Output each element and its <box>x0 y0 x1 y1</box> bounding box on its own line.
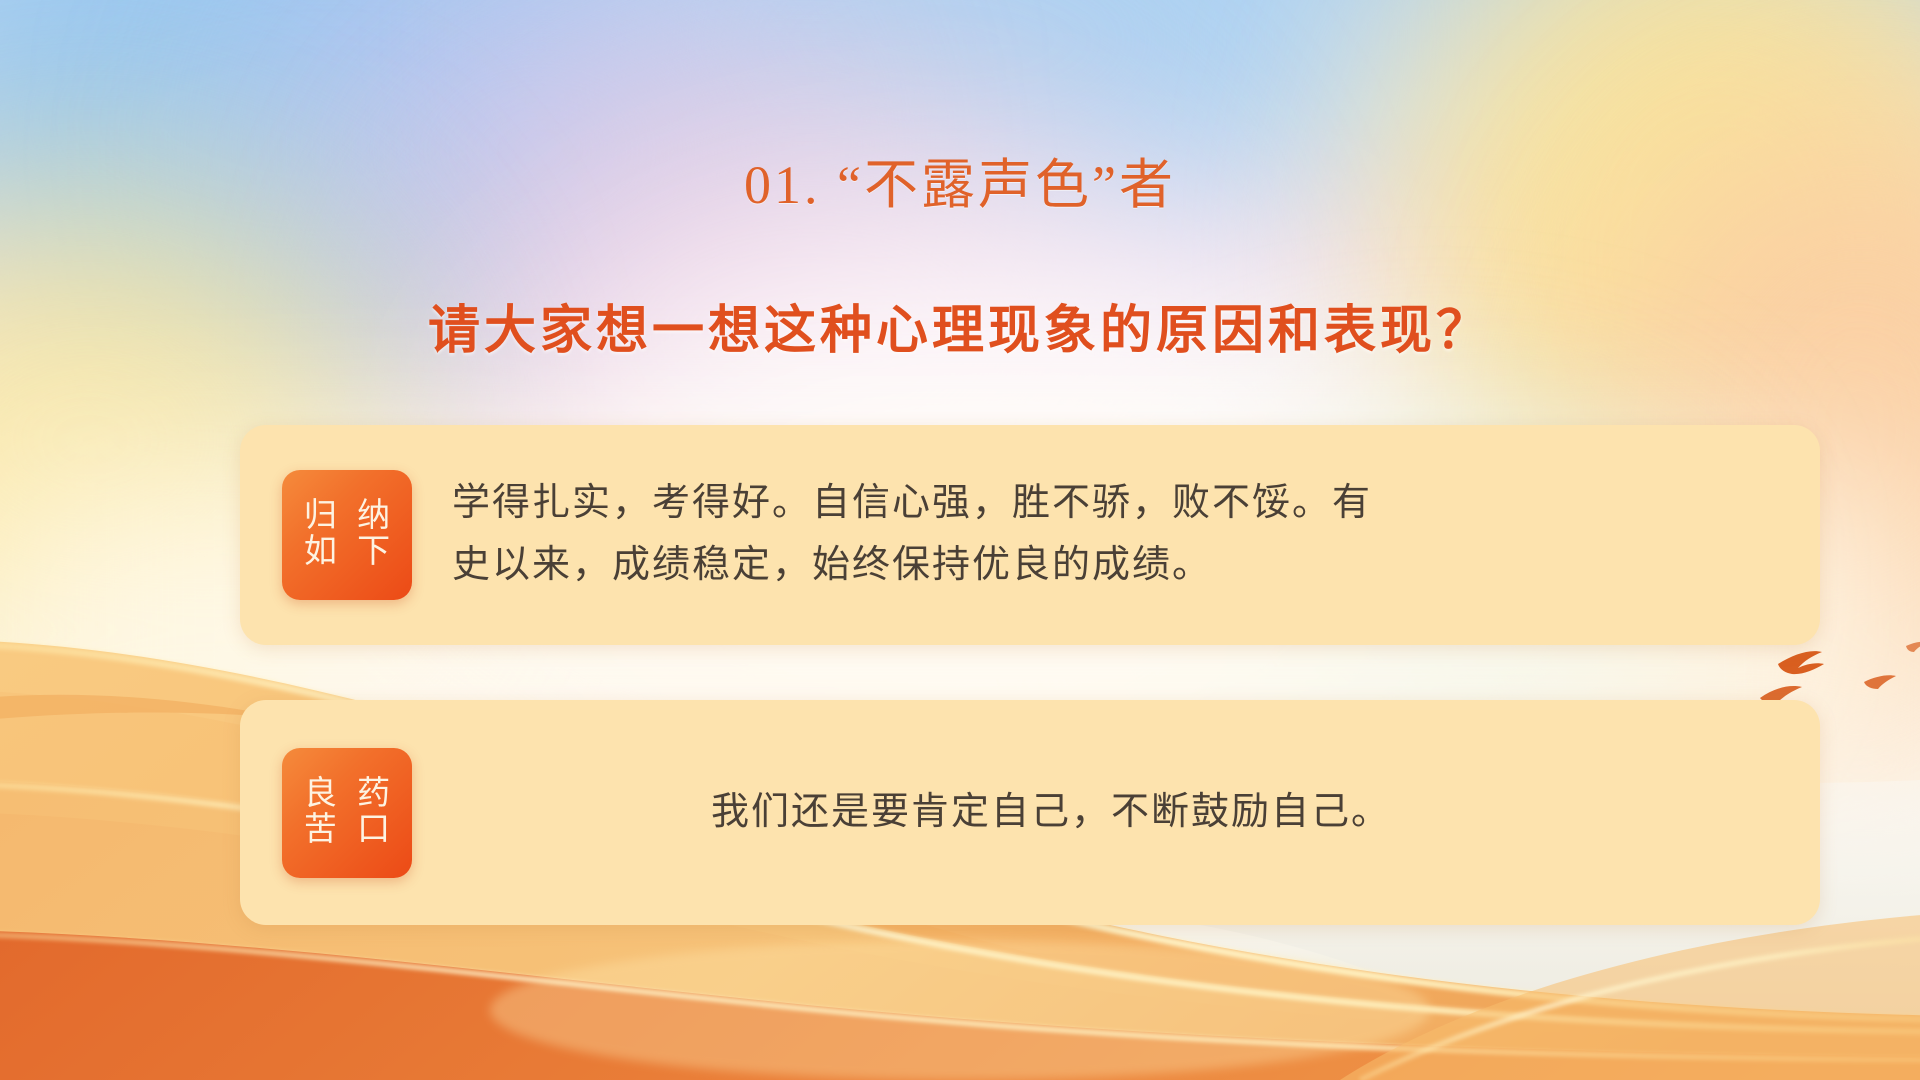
badge-line-1: 良 药 <box>298 777 396 813</box>
badge-line-1: 归 纳 <box>298 499 396 535</box>
badge-line-2: 苦 口 <box>298 813 396 849</box>
badge-line-2: 如 下 <box>298 535 396 571</box>
ribbon-center-glow <box>490 940 1430 1080</box>
content-card-2[interactable]: 良 药 苦 口 我们还是要肯定自己，不断鼓励自己。 <box>240 700 1820 925</box>
card-2-line-1: 我们还是要肯定自己，不断鼓励自己。 <box>452 782 1650 844</box>
card-1-body: 学得扎实，考得好。自信心强，胜不骄，败不馁。有 史以来，成绩稳定，始终保持优良的… <box>412 473 1820 596</box>
card-2-body: 我们还是要肯定自己，不断鼓励自己。 <box>412 782 1820 844</box>
page-subtitle: 请大家想一想这种心理现象的原因和表现？ <box>0 288 1920 363</box>
card-1-line-2: 史以来，成绩稳定，始终保持优良的成绩。 <box>452 535 1774 597</box>
badge-liangyao-kukou: 良 药 苦 口 <box>282 748 412 878</box>
content-card-1[interactable]: 归 纳 如 下 学得扎实，考得好。自信心强，胜不骄，败不馁。有 史以来，成绩稳定… <box>240 425 1820 645</box>
card-1-line-1: 学得扎实，考得好。自信心强，胜不骄，败不馁。有 <box>452 473 1774 535</box>
badge-guina-ruxia: 归 纳 如 下 <box>282 470 412 600</box>
slide-canvas: 01. “不露声色”者 请大家想一想这种心理现象的原因和表现？ 归 纳 如 下 … <box>0 0 1920 1080</box>
page-title: 01. “不露声色”者 <box>0 140 1920 219</box>
